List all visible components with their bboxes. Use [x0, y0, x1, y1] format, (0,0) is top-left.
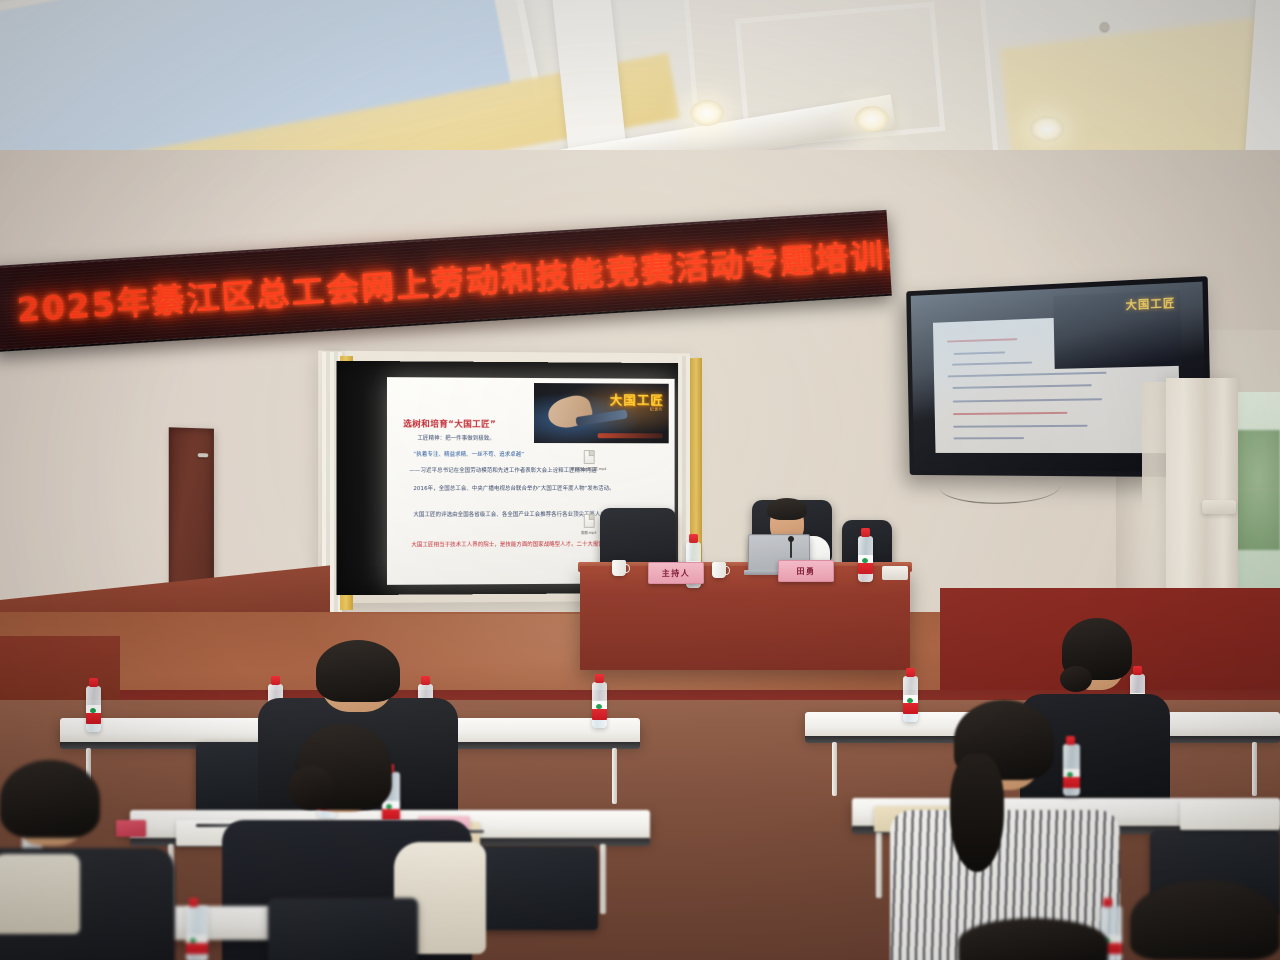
chair-row2-a[interactable] [468, 846, 598, 930]
attendee-sleeve [0, 854, 80, 934]
mug-left [612, 560, 626, 576]
slide-body-line-1: 工匠精神：把一件事做到极致。 [417, 434, 494, 442]
head-table-bottle-right [858, 536, 873, 582]
tv-hero-image: 大国工匠 [1053, 290, 1182, 369]
downlight-3 [1030, 116, 1064, 142]
presenter-hair [767, 498, 807, 520]
bottle-label [186, 935, 208, 954]
slide-file-icon-1 [584, 450, 595, 464]
attendee-hair-bun [1060, 666, 1092, 692]
bottle-row1-a [86, 686, 101, 732]
tv-slide-line-8 [953, 437, 1024, 439]
desk-leg [1252, 742, 1257, 796]
placard-host-label: 主持人 [662, 568, 691, 579]
slide-hero-image: 大国工匠 纪录片 [534, 383, 669, 443]
bottle-row3-b [186, 906, 208, 960]
bottle-label [858, 555, 873, 574]
attendee-hair [1130, 880, 1280, 960]
tv-slide-line-3 [948, 372, 1107, 378]
microphone-head[interactable] [788, 536, 794, 542]
desk-leg [832, 742, 837, 796]
tv-slide-line-5 [953, 398, 1102, 402]
desk-leg [612, 748, 617, 804]
bottle-row1-d [592, 682, 607, 728]
desk-leg [600, 844, 606, 914]
bottle-label [592, 701, 607, 720]
desk-leg [876, 832, 882, 898]
attendee-front-right [1130, 880, 1280, 960]
placard-speaker-label: 田勇 [797, 566, 816, 577]
attendee-hair [316, 640, 400, 702]
tv-slide-title-line [947, 338, 1017, 342]
slide-title: 选树和培育“大国工匠” [403, 418, 496, 430]
downlight-1 [690, 100, 724, 126]
attendee-hair [0, 760, 100, 838]
slide-image-subtitle: 纪录片 [650, 407, 663, 413]
mug-center [712, 562, 726, 578]
bottle-label [86, 705, 101, 724]
tv-slide-line-7 [953, 424, 1087, 427]
door-handle[interactable] [198, 453, 208, 457]
attendee-hair [958, 918, 1108, 960]
tv-slide-line-6 [953, 412, 1068, 415]
slide-file-icon-2 [584, 514, 595, 528]
conference-room-scene: 2025年綦江区总工会网上劳动和技能竞赛活动专题培训会 大国工匠 纪录片 选树和… [0, 0, 1280, 960]
slide-image-accent-bar [598, 433, 663, 438]
tv-slide-line-2 [952, 362, 1032, 366]
attendee-ponytail [950, 754, 1004, 872]
attendee-front-center [958, 918, 1108, 960]
slide-body-line-4: 2016年，全国总工会、中央广播电视总台联合举办“大国工匠年度人物”发布活动。 [413, 484, 614, 492]
tv-slide-line-4 [952, 385, 1091, 390]
slide-image-hand [545, 392, 595, 433]
attendee-hair-bun [288, 766, 334, 810]
attendee-front-left [0, 760, 175, 960]
microphone-stand[interactable] [790, 540, 792, 558]
tv-image-title: 大国工匠 [1125, 295, 1175, 314]
tissue-box [882, 566, 908, 580]
placard-speaker: 田勇 [778, 560, 834, 582]
downlight-2 [855, 106, 889, 132]
slide-file-label-1: 总书记论大国工匠.mp4 [568, 467, 610, 472]
ceiling-sensor-1 [1100, 22, 1109, 31]
placard-host: 主持人 [648, 562, 704, 584]
curtain-tieback [1202, 500, 1236, 514]
notebook-row2-d [1180, 800, 1280, 830]
slide-body-line-2: “执着专注、精益求精、一丝不苟、追求卓越” [413, 450, 524, 458]
tv-slide-line-1 [954, 352, 1006, 356]
chair-row3-a[interactable] [268, 898, 418, 960]
